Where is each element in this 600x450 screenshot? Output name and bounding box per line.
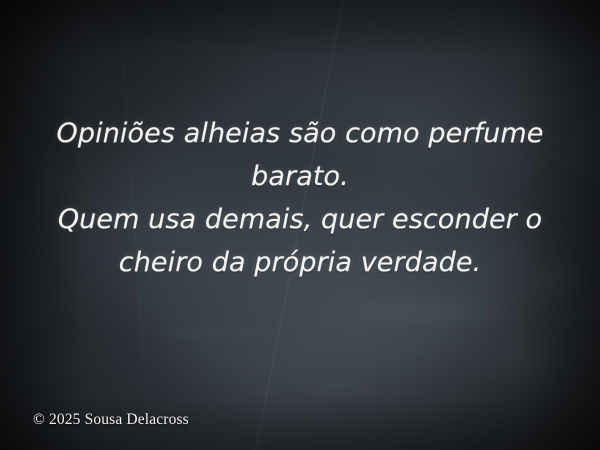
quote-line-2: barato.	[44, 155, 556, 198]
chalkboard-quote-card: Opiniões alheias são como perfume barato…	[0, 0, 600, 450]
quote-line-4: cheiro da própria verdade.	[44, 241, 556, 284]
copyright-notice: © 2025 Sousa Delacross	[33, 410, 189, 430]
quote-line-3: Quem usa demais, quer esconder o	[44, 198, 556, 241]
quote-line-1: Opiniões alheias são como perfume	[44, 112, 556, 155]
quote-text-block: Opiniões alheias são como perfume barato…	[44, 112, 556, 284]
